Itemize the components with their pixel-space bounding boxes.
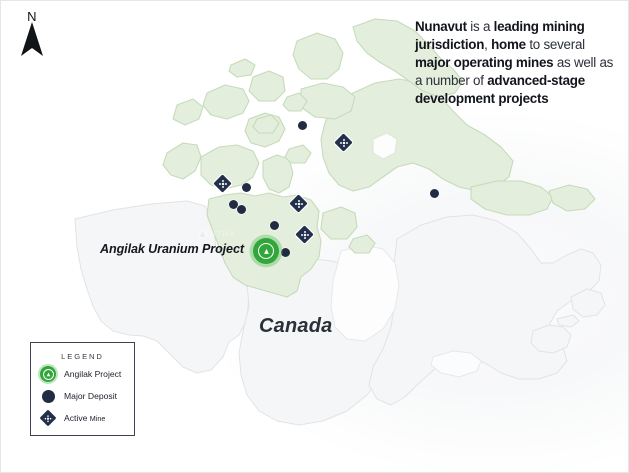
marker-major-deposit-7[interactable] bbox=[281, 248, 290, 257]
legend-item-major-deposit[interactable]: Major Deposit bbox=[31, 385, 134, 407]
active-mine-icon bbox=[334, 133, 352, 151]
map-infographic: N Nunavut is a leading mining jurisdicti… bbox=[0, 0, 629, 473]
major-deposit-icon bbox=[39, 387, 57, 405]
legend-label-active-mine-main: Active bbox=[64, 413, 90, 423]
nunavut-ne-strip bbox=[471, 181, 553, 215]
devon-island bbox=[301, 83, 355, 119]
active-mine-icon bbox=[39, 409, 57, 427]
legend-label-major-deposit: Major Deposit bbox=[64, 391, 117, 401]
provinces-maritimes bbox=[531, 325, 571, 353]
legend-label-active-mine-small: Mine bbox=[90, 414, 106, 423]
banks-island bbox=[163, 143, 201, 179]
small-island-c bbox=[285, 145, 311, 163]
marker-major-deposit-3[interactable] bbox=[430, 189, 439, 198]
melville-island-north bbox=[203, 85, 249, 119]
marker-major-deposit-2[interactable] bbox=[242, 183, 251, 192]
marker-active-mine-2[interactable] bbox=[216, 177, 229, 190]
legend-item-active-mine[interactable]: Active Mine bbox=[31, 407, 134, 429]
active-mine-icon bbox=[295, 225, 313, 243]
marker-major-deposit-5[interactable] bbox=[237, 205, 246, 214]
great-lakes bbox=[431, 351, 481, 377]
compass-rose: N bbox=[10, 10, 54, 64]
major-deposit-icon bbox=[430, 189, 439, 198]
legend-label-angilak-project: Angilak Project bbox=[64, 369, 121, 379]
marker-major-deposit-6[interactable] bbox=[270, 221, 279, 230]
headline-text: Nunavut is a leading mining jurisdiction… bbox=[415, 18, 619, 108]
bathurst-island bbox=[249, 71, 285, 101]
atha-logo-icon bbox=[197, 229, 208, 240]
marker-active-mine-3[interactable] bbox=[292, 197, 305, 210]
atha-watermark-text: ATHA bbox=[211, 231, 236, 238]
active-mine-icon bbox=[289, 194, 307, 212]
marker-active-mine-4[interactable] bbox=[298, 228, 311, 241]
legend-label-active-mine: Active Mine bbox=[64, 413, 105, 423]
nunavut-far-east-tip bbox=[549, 185, 595, 211]
map-legend: LEGEND Angilak Project Major Deposit bbox=[30, 342, 135, 436]
atha-watermark: ATHA bbox=[197, 229, 236, 240]
marker-active-mine-1[interactable] bbox=[337, 136, 350, 149]
active-mine-icon bbox=[213, 174, 231, 192]
major-deposit-icon bbox=[298, 121, 307, 130]
marker-major-deposit-1[interactable] bbox=[298, 121, 307, 130]
provinces-ontario-quebec bbox=[369, 215, 601, 405]
small-island-a bbox=[229, 59, 255, 77]
major-deposit-icon bbox=[242, 183, 251, 192]
legend-title: LEGEND bbox=[31, 343, 134, 363]
angilak-project-icon bbox=[253, 238, 279, 264]
major-deposit-icon bbox=[270, 221, 279, 230]
angilak-callout-label: Angilak Uranium Project bbox=[100, 242, 244, 256]
legend-item-angilak-project[interactable]: Angilak Project bbox=[31, 363, 134, 385]
angilak-project-icon bbox=[39, 365, 57, 383]
compass-north-label: N bbox=[10, 9, 54, 24]
province-pei bbox=[557, 315, 579, 327]
marker-angilak[interactable] bbox=[253, 238, 279, 264]
southampton-island bbox=[321, 207, 357, 239]
axel-heiberg-island bbox=[293, 33, 343, 79]
major-deposit-icon bbox=[237, 205, 246, 214]
prince-patrick-island bbox=[173, 99, 203, 125]
coats-island bbox=[349, 235, 375, 253]
major-deposit-icon bbox=[281, 248, 290, 257]
country-label-canada: Canada bbox=[259, 315, 332, 338]
headline-content: Nunavut is a leading mining jurisdiction… bbox=[415, 19, 613, 106]
